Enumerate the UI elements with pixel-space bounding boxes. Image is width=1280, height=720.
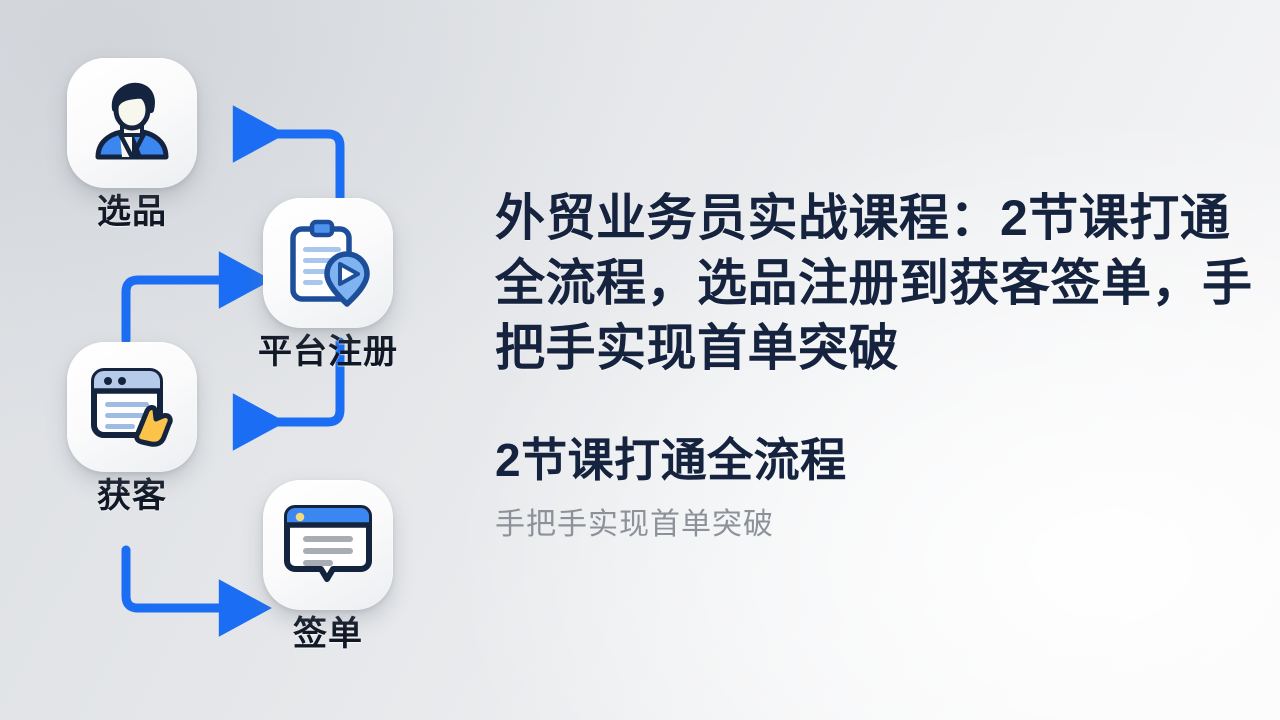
clipboard-location-icon [281, 216, 375, 310]
flow-node-tile[interactable] [263, 480, 393, 610]
browser-click-icon [85, 361, 179, 453]
arrow-huoke-to-qiandan [126, 550, 226, 608]
flow-node-label: 选品 [97, 195, 167, 231]
slide-canvas: 选品 [0, 0, 1280, 720]
flow-node-tile[interactable] [263, 198, 393, 328]
arrow-zhuce-to-xuanpin [240, 134, 340, 200]
caption: 手把手实现首单突破 [495, 508, 1255, 541]
page-title: 外贸业务员实战课程：2节课打通全流程，选品注册到获客签单，手把手实现首单突破 [495, 186, 1255, 381]
flow-node-label: 平台注册 [258, 335, 398, 371]
flow-node-label: 获客 [97, 479, 167, 515]
text-block: 外贸业务员实战课程：2节课打通全流程，选品注册到获客签单，手把手实现首单突破 2… [495, 186, 1255, 541]
flow-node-label: 签单 [293, 617, 363, 653]
signed-document-icon [281, 499, 375, 591]
flow-node-tile[interactable] [67, 58, 197, 188]
process-flow-diagram: 选品 [40, 30, 480, 690]
flow-node-qiandan[interactable]: 签单 [262, 480, 394, 653]
flow-node-tile[interactable] [67, 342, 197, 472]
businessperson-icon [86, 77, 178, 169]
subheading: 2节课打通全流程 [495, 435, 1255, 486]
flow-node-zhuce[interactable]: 平台注册 [262, 198, 394, 371]
flow-node-huoke[interactable]: 获客 [66, 342, 198, 515]
flow-node-xuanpin[interactable]: 选品 [66, 58, 198, 231]
arrow-huoke-to-zhuce [126, 280, 226, 340]
